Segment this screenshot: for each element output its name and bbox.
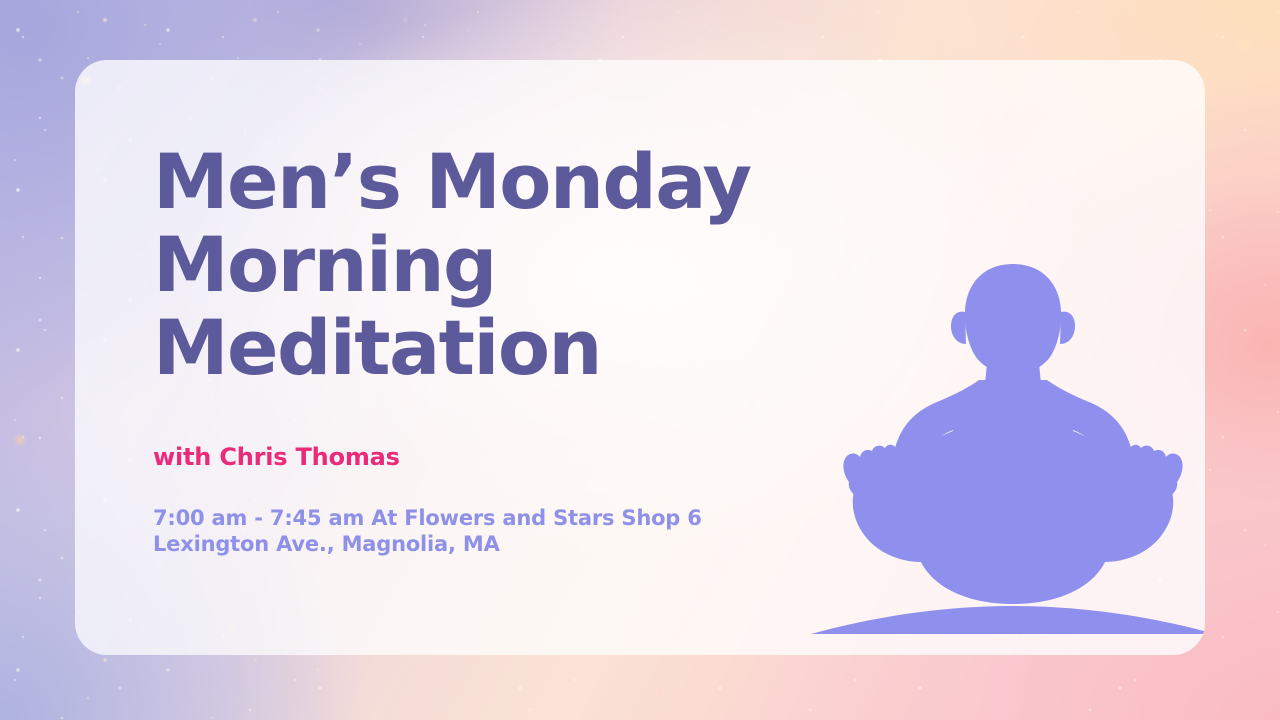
meditating-person-icon — [803, 256, 1205, 655]
event-title: Men’s Monday Morning Meditation — [153, 140, 793, 389]
event-card: Men’s Monday Morning Meditation with Chr… — [75, 60, 1205, 655]
card-content: Men’s Monday Morning Meditation with Chr… — [153, 140, 793, 557]
presenter-line: with Chris Thomas — [153, 443, 793, 471]
poster-canvas: Men’s Monday Morning Meditation with Chr… — [0, 0, 1280, 720]
event-details: 7:00 am - 7:45 am At Flowers and Stars S… — [153, 505, 793, 557]
